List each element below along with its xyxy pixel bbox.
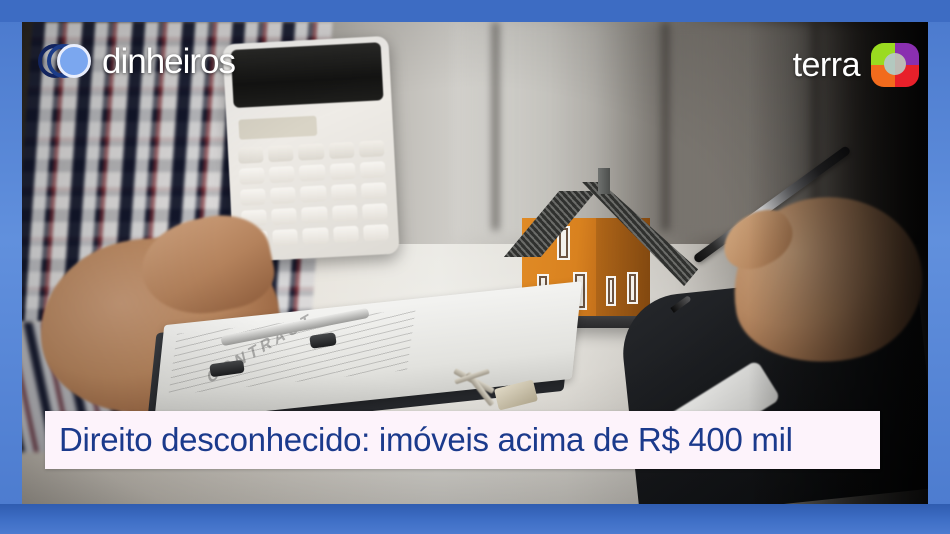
calculator-key — [362, 203, 388, 220]
calculator-key — [328, 142, 354, 159]
window-mullion-icon — [662, 22, 669, 230]
calculator-key — [240, 188, 266, 205]
calculator-key — [239, 167, 265, 184]
headline-bar: Direito desconhecido: imóveis acima de R… — [45, 411, 880, 469]
calculator-key — [358, 140, 384, 157]
calculator-key — [331, 184, 357, 201]
frame-top-border — [0, 0, 950, 22]
calculator-key — [271, 208, 297, 225]
article-card: CONTRACT dinheiros te — [0, 0, 950, 534]
calculator-solar-strip — [238, 116, 317, 140]
calculator-key — [269, 166, 295, 183]
frame-bottom-border — [0, 504, 950, 534]
house-window — [627, 272, 638, 304]
calculator-key — [270, 187, 296, 204]
overlapping-circles-icon — [38, 42, 98, 80]
calculator-key — [298, 143, 324, 160]
calculator-key — [360, 161, 386, 178]
house-chimney — [598, 168, 610, 194]
calculator-key — [329, 163, 355, 180]
calculator-key — [363, 224, 389, 241]
frame-left-border — [0, 0, 22, 534]
calculator-key — [333, 226, 359, 243]
calculator-key — [361, 182, 387, 199]
publisher-logo-label: terra — [793, 48, 860, 82]
calculator-key — [238, 147, 264, 164]
calculator-key — [300, 185, 326, 202]
publisher-logo-terra[interactable]: terra — [793, 42, 920, 88]
brand-logo-dinheiros[interactable]: dinheiros — [38, 42, 235, 80]
headline-text: Direito desconhecido: imóveis acima de R… — [59, 423, 793, 458]
frame-right-border — [928, 0, 950, 534]
calculator-screen — [231, 42, 384, 108]
calculator-key — [303, 227, 329, 244]
house-window — [606, 276, 616, 306]
terra-swirl-icon — [870, 42, 920, 88]
window-mullion-icon — [492, 22, 499, 230]
calculator-key — [272, 229, 298, 246]
calculator-key — [299, 164, 325, 181]
calculator-key — [332, 205, 358, 222]
calculator-key — [301, 206, 327, 223]
calculator-key — [268, 145, 294, 162]
brand-logo-label: dinheiros — [102, 44, 235, 79]
